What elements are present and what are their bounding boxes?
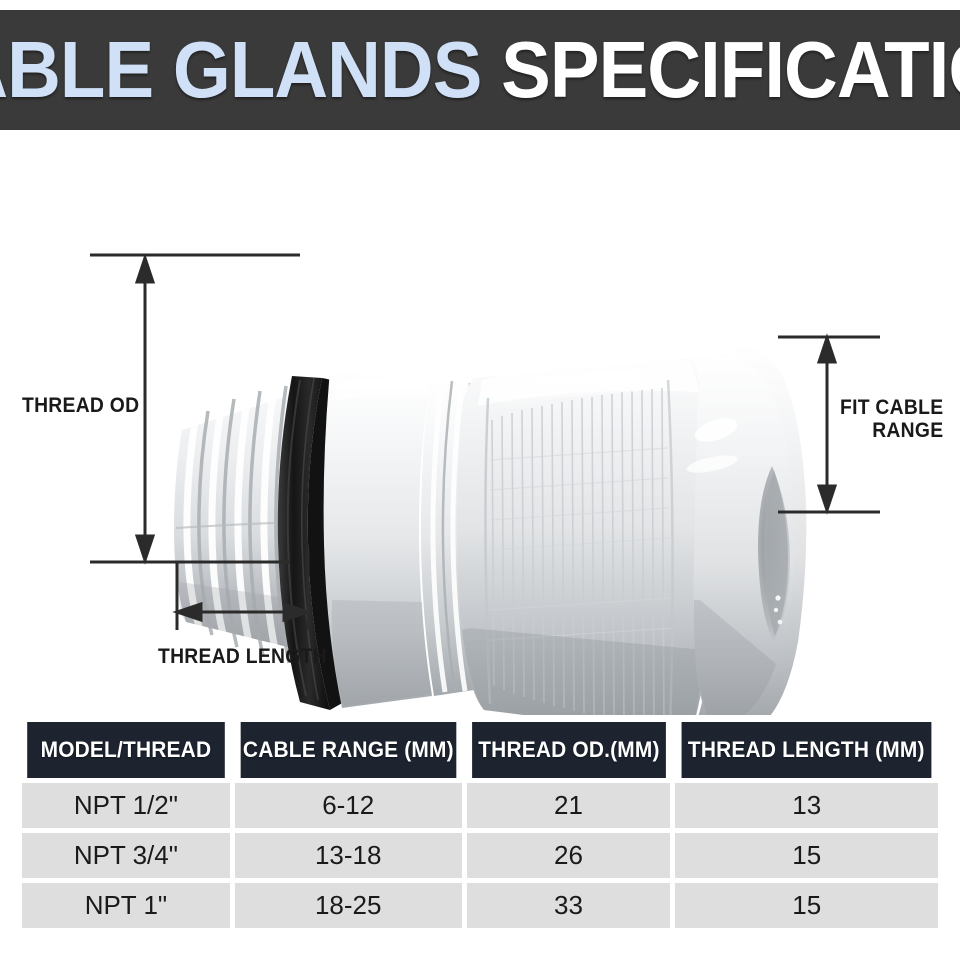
title-suffix: SPECIFICATION (501, 25, 960, 114)
table-header-cable-range: CABLE RANGE (MM) (241, 722, 456, 778)
dimension-annotations (0, 130, 960, 715)
table-row: NPT 1/2" 6-12 21 13 (22, 783, 938, 828)
cell-thread-od: 33 (467, 883, 671, 928)
cell-model-thread: NPT 3/4" (22, 833, 230, 878)
thread-length-arrow-left (177, 604, 201, 620)
fit-cable-arrow-up (819, 338, 835, 362)
table-row: NPT 3/4" 13-18 26 15 (22, 833, 938, 878)
cell-model-thread: NPT 1" (22, 883, 230, 928)
cell-thread-od: 21 (467, 783, 671, 828)
table-row: NPT 1" 18-25 33 15 (22, 883, 938, 928)
title-highlight: CABLE GLANDS (0, 25, 482, 114)
fit-cable-range-label: FIT CABLE RANGE (840, 396, 943, 442)
table-header-thread-length: THREAD LENGTH (MM) (682, 722, 931, 778)
thread-length-label: THREAD LENGTH (158, 645, 327, 668)
header-banner: CABLE GLANDS SPECIFICATION (0, 10, 960, 130)
cell-model-thread: NPT 1/2" (22, 783, 230, 828)
thread-length-arrow-right (284, 604, 308, 620)
table-header-model-thread: MODEL/THREAD (27, 722, 224, 778)
cell-thread-length: 13 (675, 783, 938, 828)
fit-cable-range-line2: RANGE (840, 419, 943, 442)
fit-cable-arrow-down (819, 486, 835, 510)
thread-od-arrow-down (137, 536, 153, 560)
cell-cable-range: 6-12 (235, 783, 462, 828)
cell-cable-range: 13-18 (235, 833, 462, 878)
fit-cable-range-line1: FIT CABLE (840, 396, 943, 419)
page-title: CABLE GLANDS SPECIFICATION (0, 30, 960, 110)
cell-thread-od: 26 (467, 833, 671, 878)
specification-table: MODEL/THREAD CABLE RANGE (MM) THREAD OD.… (22, 722, 938, 928)
cell-thread-length: 15 (675, 883, 938, 928)
thread-od-label: THREAD OD (22, 394, 139, 417)
cell-cable-range: 18-25 (235, 883, 462, 928)
thread-od-arrow-up (137, 258, 153, 282)
table-header-thread-od: THREAD OD.(MM) (472, 722, 666, 778)
product-diagram: THREAD OD FIT CABLE RANGE THREAD LENGTH (0, 130, 960, 715)
cell-thread-length: 15 (675, 833, 938, 878)
table-header-row: MODEL/THREAD CABLE RANGE (MM) THREAD OD.… (22, 722, 938, 778)
